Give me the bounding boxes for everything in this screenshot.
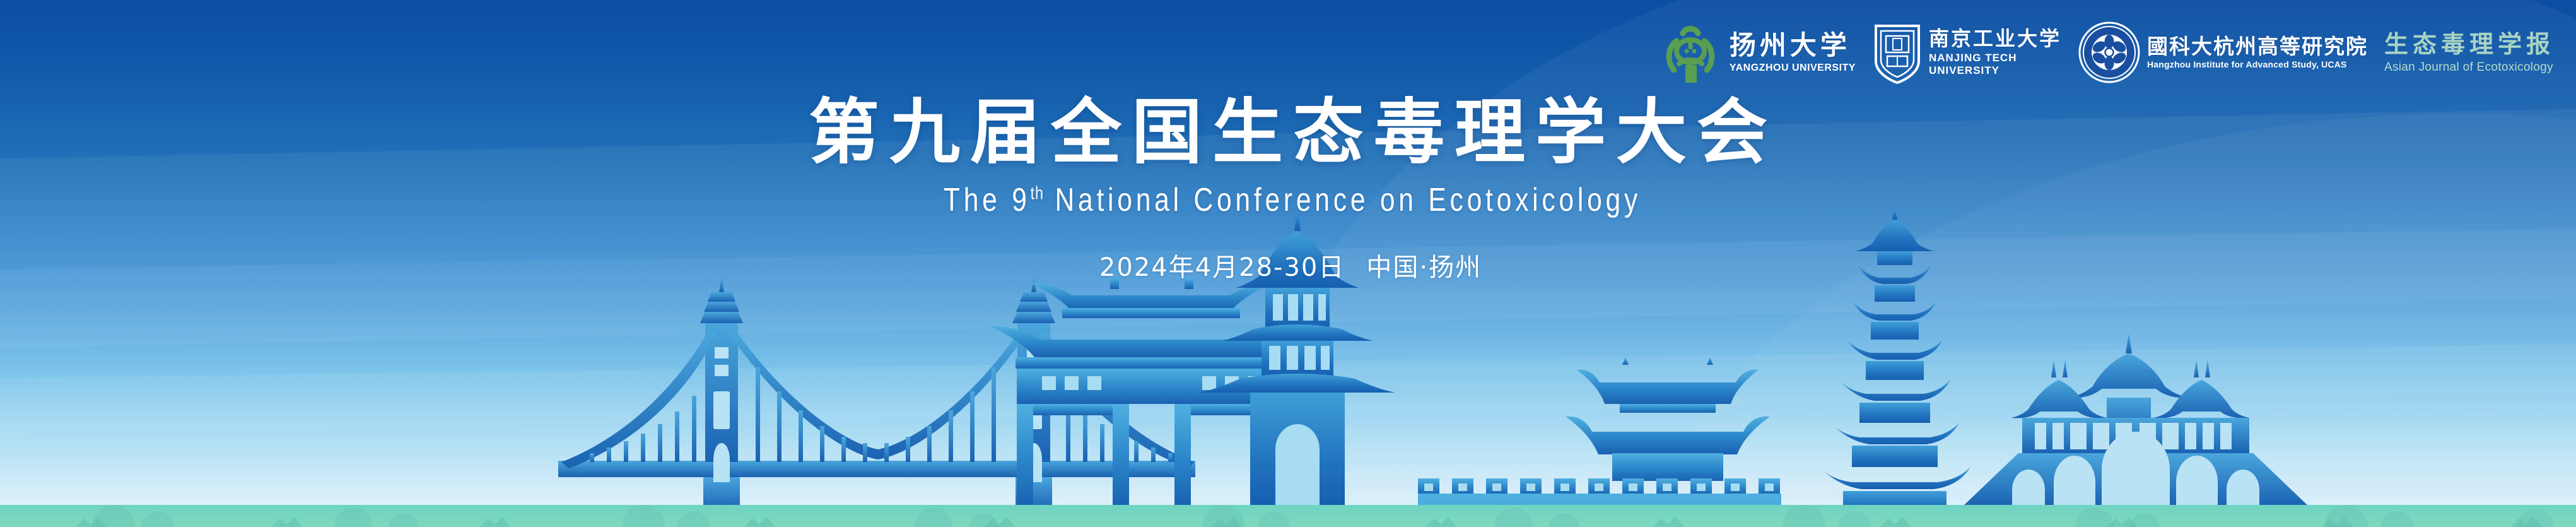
conference-location: 中国·扬州 — [1366, 253, 1482, 282]
sky-band-lower — [0, 341, 2576, 518]
conference-meta-line: 2024年4月28-30日中国·扬州 — [5, 247, 2576, 283]
logo-journal-name-cn: 生态毒理学报 — [2384, 32, 2555, 56]
sponsor-logo-row: 扬州大学 YANGZHOU UNIVERSITY 南京工业大学 NANJING … — [1658, 14, 2555, 91]
logo-nanjing-tech-name-cn: 南京工业大学 — [1929, 28, 2061, 49]
landmark-five-pavilion-bridge — [1963, 333, 2309, 505]
conference-date: 2024年4月28-30日 — [1099, 253, 1345, 282]
ground-strip — [0, 505, 2576, 527]
logo-hias-name-cn: 國科大杭州高等研究院 — [2147, 36, 2368, 57]
logo-hangzhou-institute-advanced-study: 國科大杭州高等研究院 Hangzhou Institute for Advanc… — [2078, 14, 2368, 91]
logo-hias-text: 國科大杭州高等研究院 Hangzhou Institute for Advanc… — [2147, 36, 2368, 69]
logo-yangzhou-university-name-en: YANGZHOU UNIVERSITY — [1730, 63, 1856, 73]
landmark-suspension-bridge — [558, 277, 1195, 505]
logo-yangzhou-university: 扬州大学 YANGZHOU UNIVERSITY — [1658, 14, 1856, 91]
conference-banner: 东门 — [0, 0, 2576, 527]
conference-title-cn: 第九届全国生态毒理学大会 — [10, 95, 2576, 171]
landmark-city-gate — [1418, 357, 1781, 505]
logo-journal-name-en: Asian Journal of Ecotoxicology — [2384, 61, 2555, 73]
headline-block: 第九届全国生态毒理学大会 The 9th National Conference… — [0, 95, 2576, 283]
logo-yangzhou-university-text: 扬州大学 YANGZHOU UNIVERSITY — [1730, 32, 1856, 73]
logo-nanjing-tech-name-en: NANJING TECH UNIVERSITY — [1929, 52, 2055, 76]
logo-journal-text: 生态毒理学报 Asian Journal of Ecotoxicology — [2384, 32, 2555, 73]
conference-title-en-prefix: The 9 — [944, 182, 1031, 218]
logo-nanjing-tech-text: 南京工业大学 NANJING TECH UNIVERSITY — [1929, 28, 2061, 76]
logo-nanjing-tech-university: 南京工业大学 NANJING TECH UNIVERSITY — [1872, 14, 2061, 91]
landmark-paifang-archway — [989, 278, 1312, 505]
nanjing-tech-shield-emblem-icon — [1872, 20, 1923, 85]
conference-title-en: The 9th National Conference on Ecotoxico… — [240, 181, 2345, 219]
logo-hias-name-en: Hangzhou Institute for Advanced Study, U… — [2147, 60, 2368, 69]
yangzhou-university-emblem-icon — [1658, 20, 1723, 85]
conference-title-en-ordinal: th — [1031, 184, 1044, 204]
logo-yangzhou-university-name-cn: 扬州大学 — [1730, 32, 1856, 59]
ucas-circular-emblem-icon — [2078, 21, 2141, 84]
logo-asian-journal-of-ecotoxicology: 生态毒理学报 Asian Journal of Ecotoxicology — [2384, 14, 2555, 91]
conference-title-en-rest: National Conference on Ecotoxicology — [1044, 182, 1641, 218]
